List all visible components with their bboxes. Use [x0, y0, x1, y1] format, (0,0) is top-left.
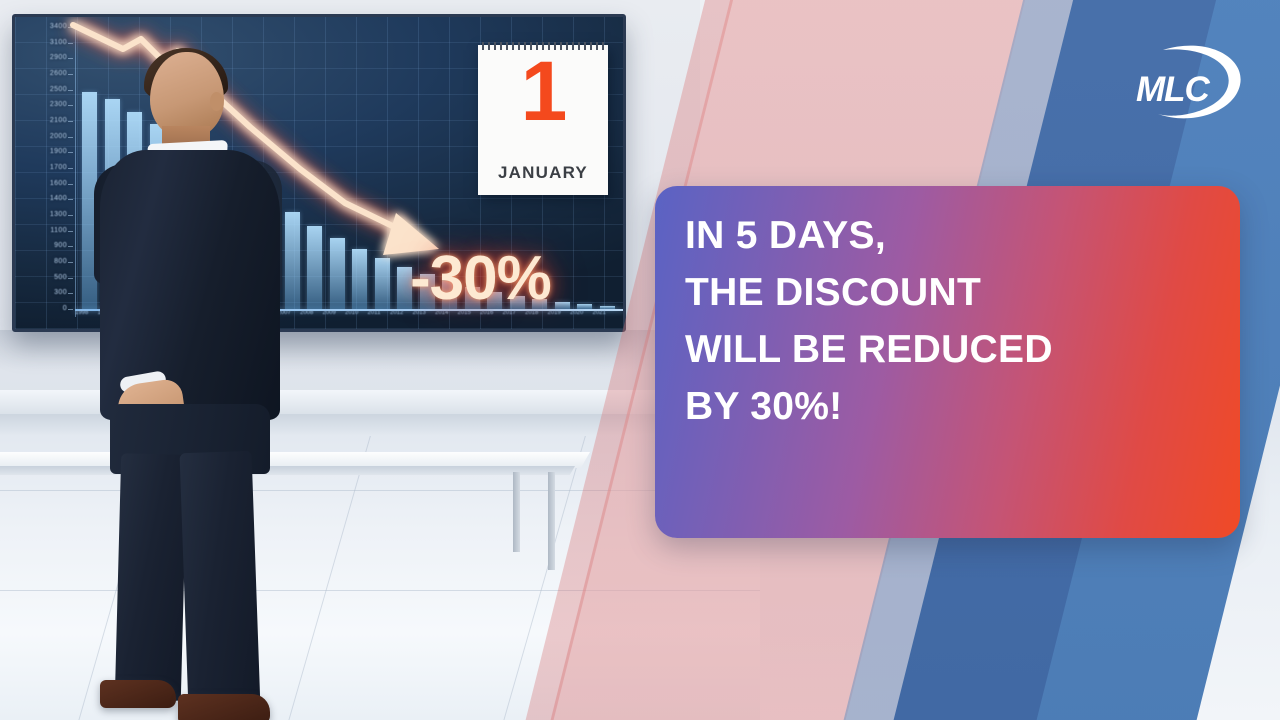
- calendar-card: 1 JANUARY: [478, 45, 608, 195]
- promo-banner: 3400310029002600250023002100200019001700…: [0, 0, 1280, 720]
- mlc-logo[interactable]: MLC: [1130, 40, 1250, 128]
- conference-table-edge: [0, 466, 575, 475]
- promo-line-1: IN 5 DAYS,: [685, 208, 1222, 265]
- man-right-shoe: [178, 694, 270, 720]
- calendar-day: 1: [478, 49, 608, 133]
- man-right-leg: [180, 451, 261, 711]
- promo-line-4: BY 30%!: [685, 379, 1222, 436]
- table-leg: [548, 472, 555, 570]
- man-left-leg: [115, 453, 187, 701]
- man-left-shoe: [100, 680, 176, 708]
- promo-line-3: WILL BE REDUCED: [685, 322, 1222, 379]
- mlc-logo-text: MLC: [1136, 70, 1209, 110]
- table-leg: [513, 472, 520, 552]
- calendar-month: JANUARY: [478, 163, 608, 183]
- promo-message-card[interactable]: IN 5 DAYS, THE DISCOUNT WILL BE REDUCED …: [655, 186, 1240, 538]
- discount-value-on-screen: -30%: [410, 243, 551, 314]
- businessman-figure: [92, 52, 287, 720]
- promo-line-2: THE DISCOUNT: [685, 265, 1222, 322]
- man-ear: [210, 92, 223, 111]
- promo-message-text: IN 5 DAYS, THE DISCOUNT WILL BE REDUCED …: [685, 208, 1222, 436]
